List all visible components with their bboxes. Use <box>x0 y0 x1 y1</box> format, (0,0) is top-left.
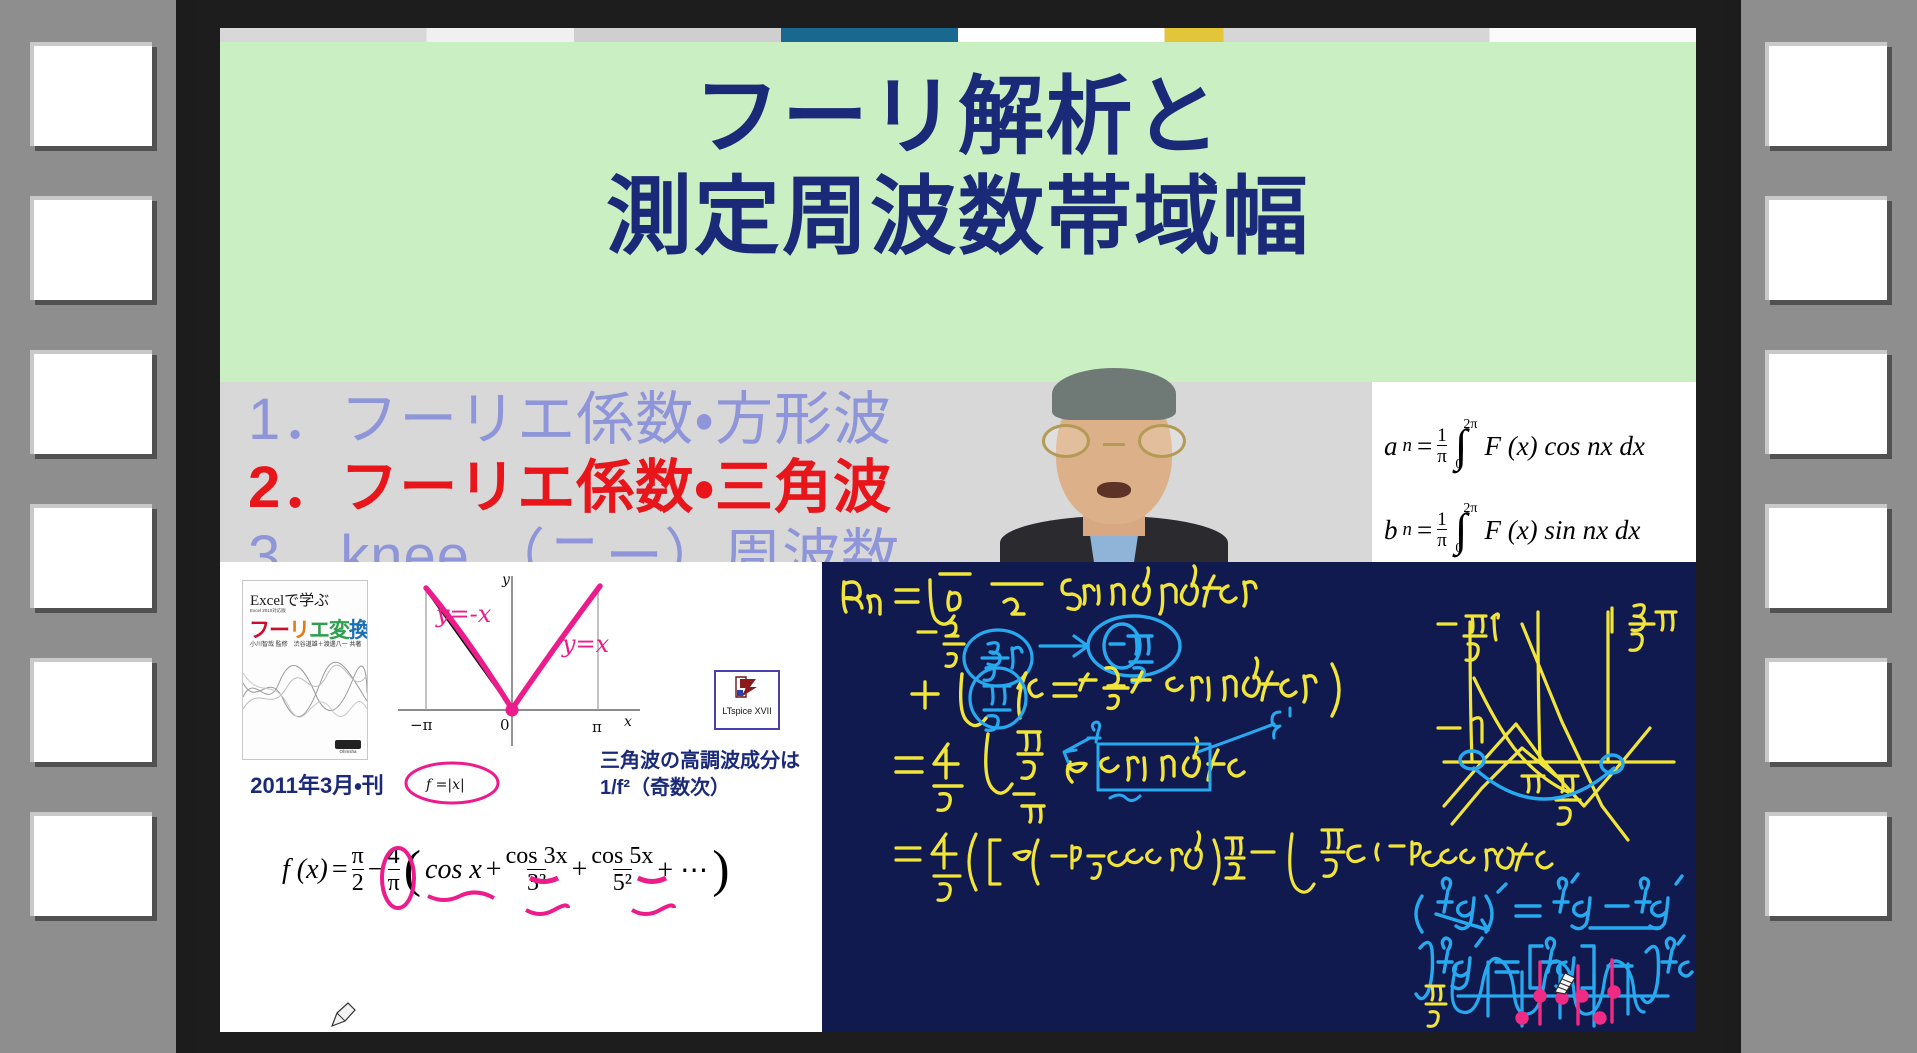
x-tick-origin: 0 <box>500 716 510 734</box>
formula-bn-body: F (x) sin nx dx <box>1484 515 1640 546</box>
presenter-mouth <box>1097 482 1131 498</box>
formula-bn-numerator: 1 <box>1437 510 1447 529</box>
glasses-right-lens <box>1138 424 1186 458</box>
formula-bn: bn = 1 π ∫ 2π 0 F (x) sin nx dx <box>1384 509 1640 551</box>
sprocket-hole <box>30 812 152 916</box>
formula-an-denominator: π <box>1437 445 1447 466</box>
eraser-cursor-icon <box>1552 970 1578 996</box>
book-wave-artwork <box>243 653 367 727</box>
hw-line-eq2 <box>896 830 1552 900</box>
formula-an-body: F (x) cos nx dx <box>1484 431 1644 462</box>
formula-an-sub: n <box>1403 435 1412 457</box>
frame-rail-left <box>176 0 196 1053</box>
formula-bn-denominator: π <box>1437 529 1447 550</box>
y-axis-label: y <box>501 572 511 588</box>
screen-root: –□× フーリ解析と 測定周波数帯域幅 1．フーリエ係数・方形波 2．フーリエ係… <box>0 0 1917 1053</box>
hw-product-rule <box>1416 874 1682 932</box>
sprocket-hole <box>30 350 152 454</box>
x-axis-label: x <box>624 714 632 730</box>
sprocket-hole <box>1765 812 1887 916</box>
sprocket-hole <box>1765 350 1887 454</box>
formula-bn-lhs: b <box>1384 515 1398 546</box>
sprocket-hole <box>30 658 152 762</box>
sprocket-hole <box>1765 42 1887 146</box>
formula-bn-upper-limit: 2π <box>1463 501 1477 517</box>
book-block: Excelで学ぶ Excel 2010対応版 フーリエ変換 小川智哉 監修 渋谷… <box>242 580 366 800</box>
sprocket-hole <box>30 196 152 300</box>
sprocket-hole <box>1765 658 1887 762</box>
formula-bn-equals: = <box>1417 515 1432 546</box>
harmonic-note-line2: 1/f²（奇数次） <box>600 775 815 802</box>
book-publisher: Ohmsha <box>335 740 361 754</box>
blackboard-ink <box>822 562 1696 1032</box>
captured-screen: –□× フーリ解析と 測定周波数帯域幅 1．フーリエ係数・方形波 2．フーリエ係… <box>196 0 1721 1053</box>
triangle-wave-graph: −π 0 π x y y=-x y=x <box>390 570 650 750</box>
formula-box-bn: bn = 1 π ∫ 2π 0 F (x) sin nx dx <box>1374 494 1696 566</box>
formula-an-fraction: 1 π <box>1437 426 1447 467</box>
hw-fg-box <box>1064 708 1290 801</box>
filmstrip-left <box>0 0 196 1053</box>
formula-an-lower-limit: 0 <box>1455 457 1477 473</box>
formula-an-numerator: 1 <box>1437 426 1447 445</box>
publisher-name: Ohmsha <box>335 749 361 754</box>
formula-an-lhs: a <box>1384 431 1398 462</box>
presentation-slide: フーリ解析と 測定周波数帯域幅 1．フーリエ係数・方形波 2．フーリエ係数・三角… <box>220 42 1696 1032</box>
sprocket-hole <box>1765 504 1887 608</box>
equation-ink-marks <box>280 834 800 930</box>
page-title: フーリ解析と 測定周波数帯域幅 <box>220 68 1696 268</box>
annotation-y-equals-x: y=x <box>561 630 610 658</box>
window-chrome-strip <box>220 28 1696 42</box>
formula-bn-integral: ∫ 2π 0 <box>1455 509 1478 551</box>
lower-left-panel: Excelで学ぶ Excel 2010対応版 フーリエ変換 小川智哉 監修 渋谷… <box>220 562 822 1032</box>
formula-an-integral: ∫ 2π 0 <box>1455 425 1478 467</box>
sprocket-hole <box>30 504 152 608</box>
ltspice-shortcut-icon[interactable]: LTspice XVII <box>714 670 780 730</box>
book-caption: 2011年3月・刊 <box>242 768 392 800</box>
sprocket-hole <box>1765 196 1887 300</box>
formula-an-upper-limit: 2π <box>1463 417 1477 433</box>
formula-box-an: an = 1 π ∫ 2π 0 F (x) cos nx dx <box>1374 410 1696 482</box>
formula-an: an = 1 π ∫ 2π 0 F (x) cos nx dx <box>1384 425 1645 467</box>
x-tick-left: −π <box>410 716 433 734</box>
frame-rail-right <box>1721 0 1741 1053</box>
origin-marker <box>506 704 519 717</box>
harmonic-note-line1: 三角波の高調波成分は <box>600 748 815 775</box>
title-line-2: 測定周波数帯域幅 <box>220 168 1696 268</box>
filmstrip-right <box>1721 0 1917 1053</box>
agenda-item-1-label: フーリエ係数・方形波 <box>340 387 892 452</box>
hw-triangle-wave-plot <box>1438 605 1676 840</box>
circled-note-text: f =|x| <box>425 777 465 793</box>
ltspice-label: LTspice XVII <box>716 706 778 716</box>
hw-arrow <box>1040 636 1088 656</box>
hw-bn-line <box>843 566 1256 624</box>
sprocket-hole <box>30 42 152 146</box>
agenda-item-1-number: 1． <box>248 387 340 452</box>
book-authors: 小川智哉 監修 渋谷道雄＋渡邊八一 共著 <box>250 639 361 648</box>
glasses-left-lens <box>1042 424 1090 458</box>
hw-circle-neg-pi2 <box>1088 616 1180 682</box>
graph-svg: −π 0 π x y y=-x y=x <box>390 570 650 750</box>
handwriting-blackboard <box>822 562 1696 1032</box>
publisher-logo-icon <box>335 740 361 749</box>
formula-bn-sub: n <box>1403 519 1412 541</box>
hw-lower-limit <box>918 623 964 667</box>
pen-cursor-icon <box>328 1000 358 1030</box>
ltspice-glyph-icon <box>734 675 760 699</box>
formula-bn-lower-limit: 0 <box>1455 541 1477 557</box>
book-cover: Excelで学ぶ Excel 2010対応版 フーリエ変換 小川智哉 監修 渋谷… <box>242 580 368 760</box>
glasses-bridge <box>1103 443 1125 446</box>
formula-an-equals: = <box>1417 431 1432 462</box>
agenda-item-2-label: フーリエ係数・三角波 <box>340 455 892 520</box>
x-tick-right: π <box>592 718 602 736</box>
formula-bn-fraction: 1 π <box>1437 510 1447 551</box>
annotation-y-equals-minus-x: y=-x <box>435 600 492 628</box>
title-line-1: フーリ解析と <box>220 68 1696 168</box>
book-title-top: Excelで学ぶ <box>250 589 329 610</box>
circled-fx-note: f =|x| <box>398 757 506 814</box>
harmonic-note: 三角波の高調波成分は 1/f²（奇数次） <box>600 748 815 802</box>
presenter-hair <box>1052 368 1176 420</box>
agenda-item-2-number: 2． <box>248 455 340 520</box>
